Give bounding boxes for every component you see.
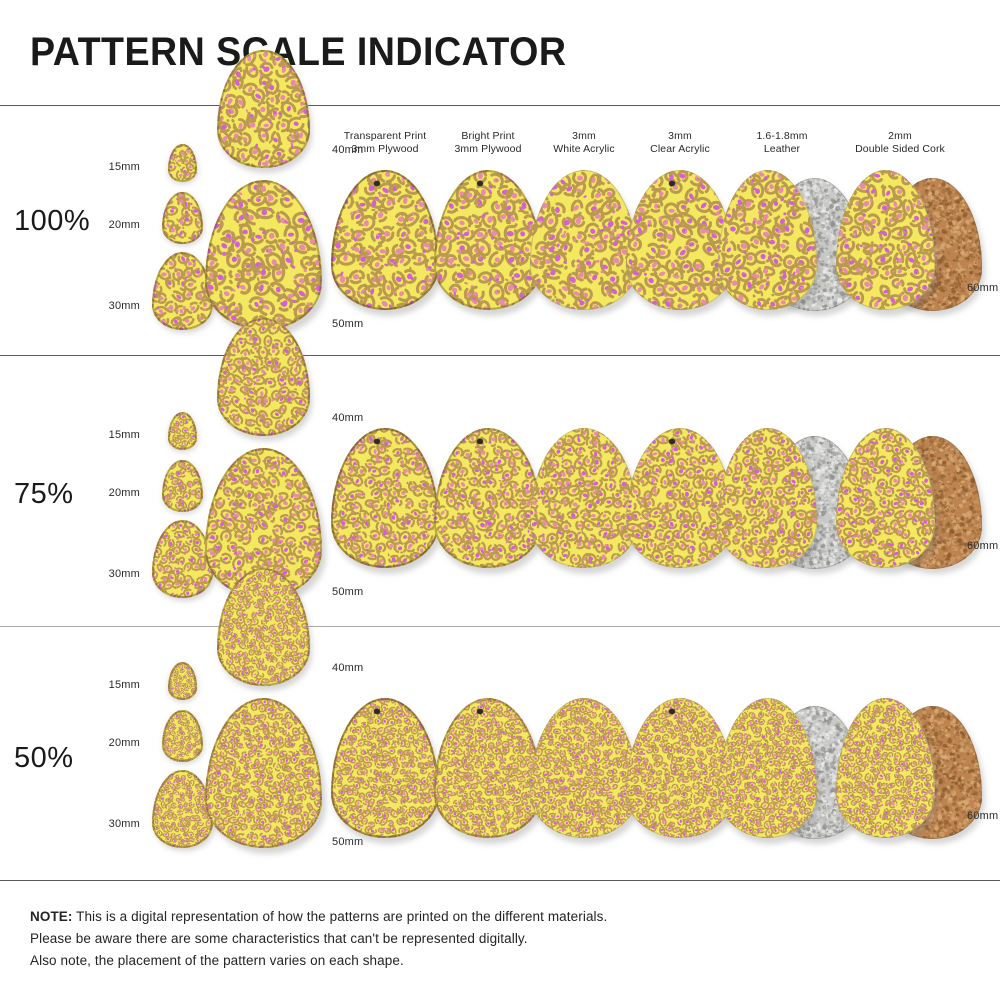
- ref-drop-40mm-label: 40mm: [332, 662, 363, 674]
- note-line-1: NOTE: This is a digital representation o…: [30, 906, 607, 928]
- ref-drop-15mm: [168, 662, 198, 700]
- note-line-3: Also note, the placement of the pattern …: [30, 950, 607, 972]
- drill-hole: [477, 709, 483, 715]
- note-line-2: Please be aware there are some character…: [30, 928, 607, 950]
- pattern-scale-indicator-page: PATTERN SCALE INDICATOR Transparent Prin…: [0, 0, 1000, 1000]
- ref-drop-30mm-label: 30mm: [109, 818, 140, 830]
- material-drop-white-acrylic: [530, 698, 638, 838]
- ref-drop-50mm: [205, 698, 322, 848]
- ref-drop-20mm: [162, 710, 203, 762]
- note-label: NOTE:: [30, 909, 73, 924]
- material-drop-leather: [718, 698, 817, 838]
- material-drop-bright-print-plywood: [434, 698, 542, 838]
- ref-drop-20mm-label: 20mm: [109, 737, 140, 749]
- ref-drop-30mm: [152, 770, 213, 848]
- material-size-60mm-label: 60mm: [967, 810, 998, 822]
- scale-row-row-50: 50%15mm20mm30mm40mm50mm60mm: [0, 0, 1000, 1000]
- scale-percent-label: 50%: [14, 742, 74, 775]
- ref-drop-40mm: [217, 568, 309, 686]
- ref-drop-15mm-label: 15mm: [109, 679, 140, 691]
- note-block: NOTE: This is a digital representation o…: [30, 906, 607, 972]
- material-drop-transparent-print-plywood: [331, 698, 439, 838]
- note-line-1-text: This is a digital representation of how …: [73, 909, 608, 924]
- drill-hole: [669, 709, 675, 715]
- material-drop-double-sided-cork: [836, 698, 935, 838]
- drill-hole: [374, 709, 380, 715]
